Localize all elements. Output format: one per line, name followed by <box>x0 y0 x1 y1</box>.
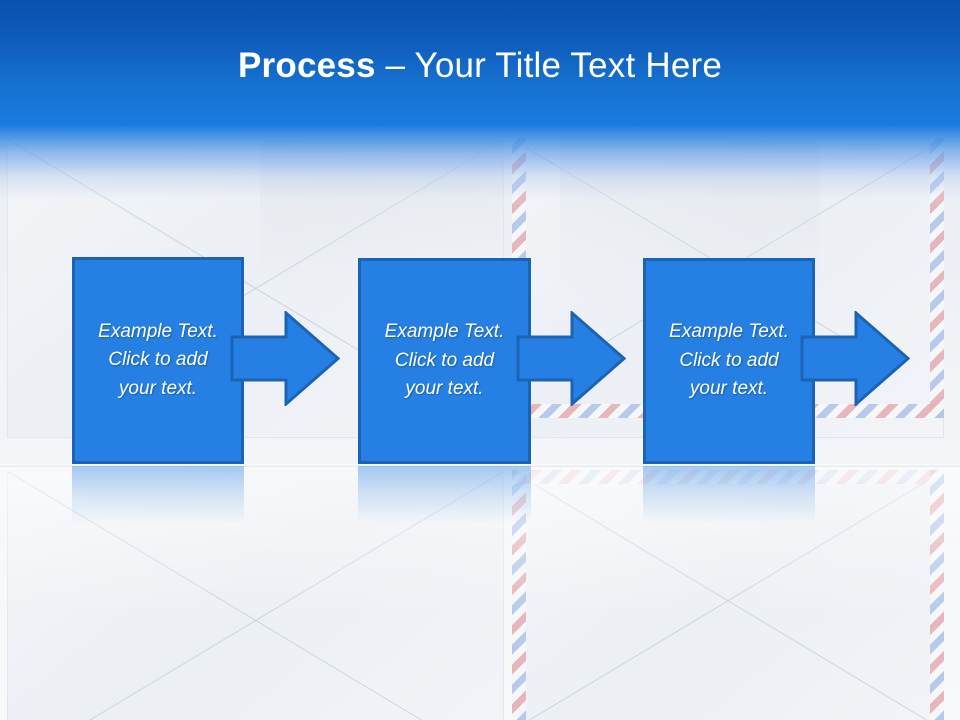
process-arrow-2[interactable] <box>516 311 626 406</box>
box-reflection-2 <box>358 466 531 536</box>
process-arrow-1[interactable] <box>230 311 340 406</box>
process-step-box-3[interactable]: Example Text. Click to add your text. <box>643 258 815 464</box>
process-step-box-2[interactable]: Example Text. Click to add your text. <box>358 258 531 464</box>
page-title-strong: Process <box>238 46 376 85</box>
process-step-text-2: Example Text. Click to add your text. <box>377 318 513 404</box>
process-step-box-1[interactable]: Example Text. Click to add your text. <box>72 257 244 464</box>
page-title: Process – Your Title Text Here <box>0 46 960 86</box>
page-title-rest: Your Title Text Here <box>415 46 723 85</box>
process-step-text-3: Example Text. Click to add your text. <box>661 318 797 404</box>
slide-canvas: Example Text. Click to add your text. Ex… <box>0 0 960 720</box>
process-arrow-3[interactable] <box>800 311 910 406</box>
box-reflection-1 <box>72 466 244 536</box>
process-step-text-1: Example Text. Click to add your text. <box>90 318 226 404</box>
box-reflection-3 <box>643 466 815 536</box>
page-title-separator: – <box>376 46 415 85</box>
